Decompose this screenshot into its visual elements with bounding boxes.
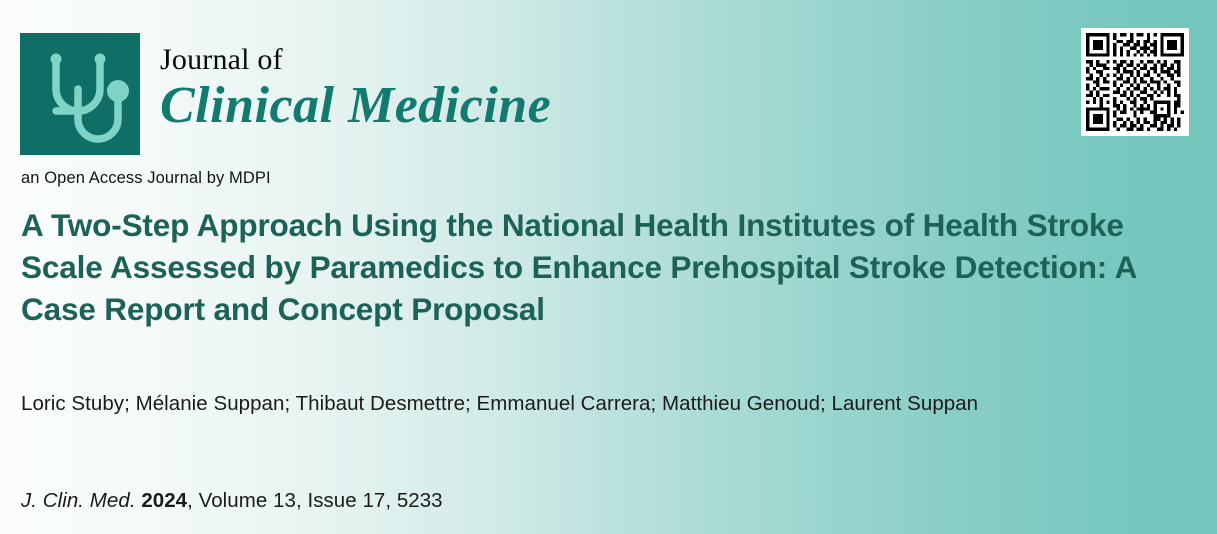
citation-volume-issue: , Volume 13, Issue 17, 5233 <box>187 489 443 512</box>
journal-wordmark: Journal of Clinical Medicine <box>160 45 551 132</box>
stethoscope-icon <box>20 33 140 155</box>
citation-journal-abbrev: J. Clin. Med. <box>21 489 136 512</box>
journal-article-banner: Journal of Clinical Medicine an Open Acc… <box>0 0 1217 534</box>
citation-year: 2024 <box>141 489 187 512</box>
wordmark-line-journal-of: Journal of <box>160 45 551 75</box>
qr-code-icon[interactable] <box>1081 28 1189 136</box>
article-title: A Two-Step Approach Using the National H… <box>21 205 1136 331</box>
journal-masthead: Journal of Clinical Medicine <box>20 33 551 155</box>
journal-tagline: an Open Access Journal by MDPI <box>21 169 271 188</box>
qr-code-modules <box>1086 33 1184 131</box>
article-citation: J. Clin. Med. 2024, Volume 13, Issue 17,… <box>21 489 443 513</box>
wordmark-line-clinical-medicine: Clinical Medicine <box>160 80 551 132</box>
article-authors: Loric Stuby; Mélanie Suppan; Thibaut Des… <box>21 389 1189 419</box>
